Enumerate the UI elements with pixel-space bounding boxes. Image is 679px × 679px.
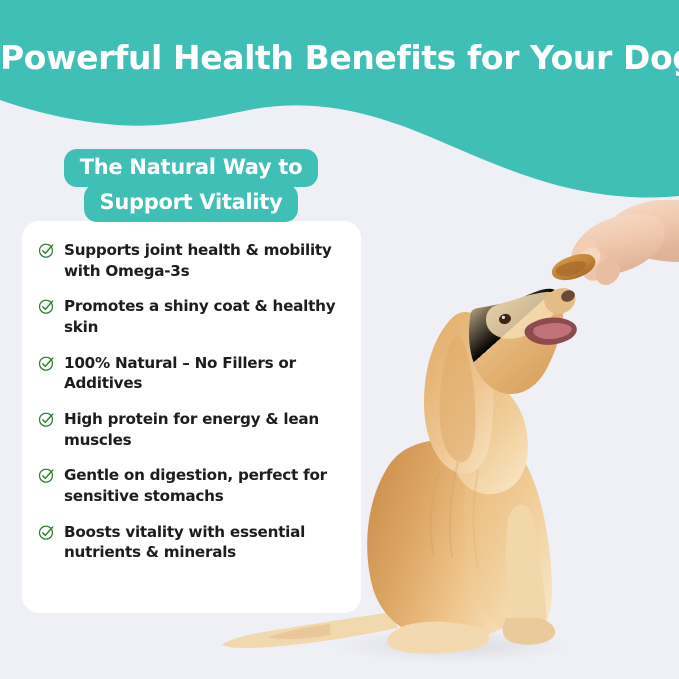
check-circle-icon	[38, 355, 55, 372]
check-circle-icon	[38, 524, 55, 541]
check-circle-icon	[38, 298, 55, 315]
list-item-label: Promotes a shiny coat & healthy skin	[64, 296, 343, 337]
list-item-label: High protein for energy & lean muscles	[64, 409, 343, 450]
check-circle-icon	[38, 467, 55, 484]
list-item-label: Boosts vitality with essential nutrients…	[64, 522, 343, 563]
badge-line-2: Support Vitality	[84, 184, 299, 222]
list-item: Boosts vitality with essential nutrients…	[38, 522, 343, 563]
list-item: Promotes a shiny coat & healthy skin	[38, 296, 343, 337]
badge: The Natural Way to Support Vitality	[22, 149, 360, 222]
benefits-card: Supports joint health & mobility with Om…	[22, 221, 361, 613]
list-item: High protein for energy & lean muscles	[38, 409, 343, 450]
promo-poster: Powerful Health Benefits for Your Dog	[0, 0, 679, 679]
list-item: 100% Natural – No Fillers or Additives	[38, 353, 343, 394]
badge-line-1: The Natural Way to	[64, 149, 319, 187]
check-circle-icon	[38, 411, 55, 428]
page-title: Powerful Health Benefits for Your Dog	[0, 38, 679, 77]
list-item-label: Supports joint health & mobility with Om…	[64, 240, 343, 281]
list-item: Supports joint health & mobility with Om…	[38, 240, 343, 281]
list-item-label: Gentle on digestion, perfect for sensiti…	[64, 465, 343, 506]
list-item-label: 100% Natural – No Fillers or Additives	[64, 353, 343, 394]
check-circle-icon	[38, 242, 55, 259]
list-item: Gentle on digestion, perfect for sensiti…	[38, 465, 343, 506]
